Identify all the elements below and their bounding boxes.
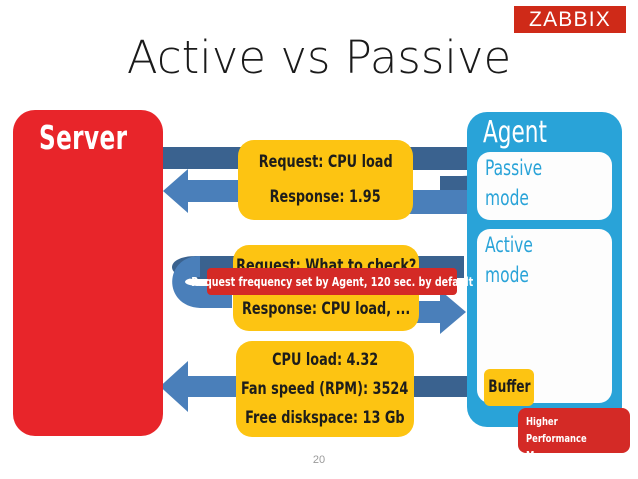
arrow-request-bar-1 xyxy=(163,147,243,169)
buffer-label: Buffer xyxy=(488,379,530,396)
message-line: Response: CPU load, ... xyxy=(242,301,410,318)
message-line: Fan speed (RPM): 3524 xyxy=(241,381,408,398)
agent-label: Agent xyxy=(483,116,547,149)
server-box: Server xyxy=(13,110,163,436)
slide-canvas: Server Agent Passive mode Active mode Bu… xyxy=(0,0,638,479)
agent-panel-active-label: Active mode xyxy=(485,231,533,291)
agent-panel-passive: Passive mode xyxy=(477,152,612,220)
page-title: Active vs Passive xyxy=(0,33,638,83)
arrow-response-2 xyxy=(414,290,466,334)
message-line: Request: CPU load xyxy=(259,154,393,171)
message-box-active-data: CPU load: 4.32 Fan speed (RPM): 3524 Fre… xyxy=(236,341,414,437)
arrow-response-1 xyxy=(163,169,243,213)
zabbix-logo-text: ZABBIX xyxy=(529,9,611,30)
message-line: Free diskspace: 13 Gb xyxy=(245,410,404,427)
arrow-data-3 xyxy=(160,361,241,412)
message-line: CPU load: 4.32 xyxy=(272,352,378,369)
zabbix-logo: ZABBIX xyxy=(514,6,626,33)
frequency-note-text: Request frequency set by Agent, 120 sec.… xyxy=(191,276,473,288)
slide-number: 20 xyxy=(0,455,638,466)
frequency-note-banner: Request frequency set by Agent, 120 sec.… xyxy=(207,268,457,295)
agent-panel-passive-label: Passive mode xyxy=(485,154,542,214)
server-label: Server xyxy=(39,120,127,156)
buffer-box: Buffer xyxy=(484,369,534,406)
message-line: Response: 1.95 xyxy=(270,189,381,206)
performance-callout: Higher Performance More secure xyxy=(518,408,630,453)
message-box-passive-exchange: Request: CPU load Response: 1.95 xyxy=(238,140,413,220)
